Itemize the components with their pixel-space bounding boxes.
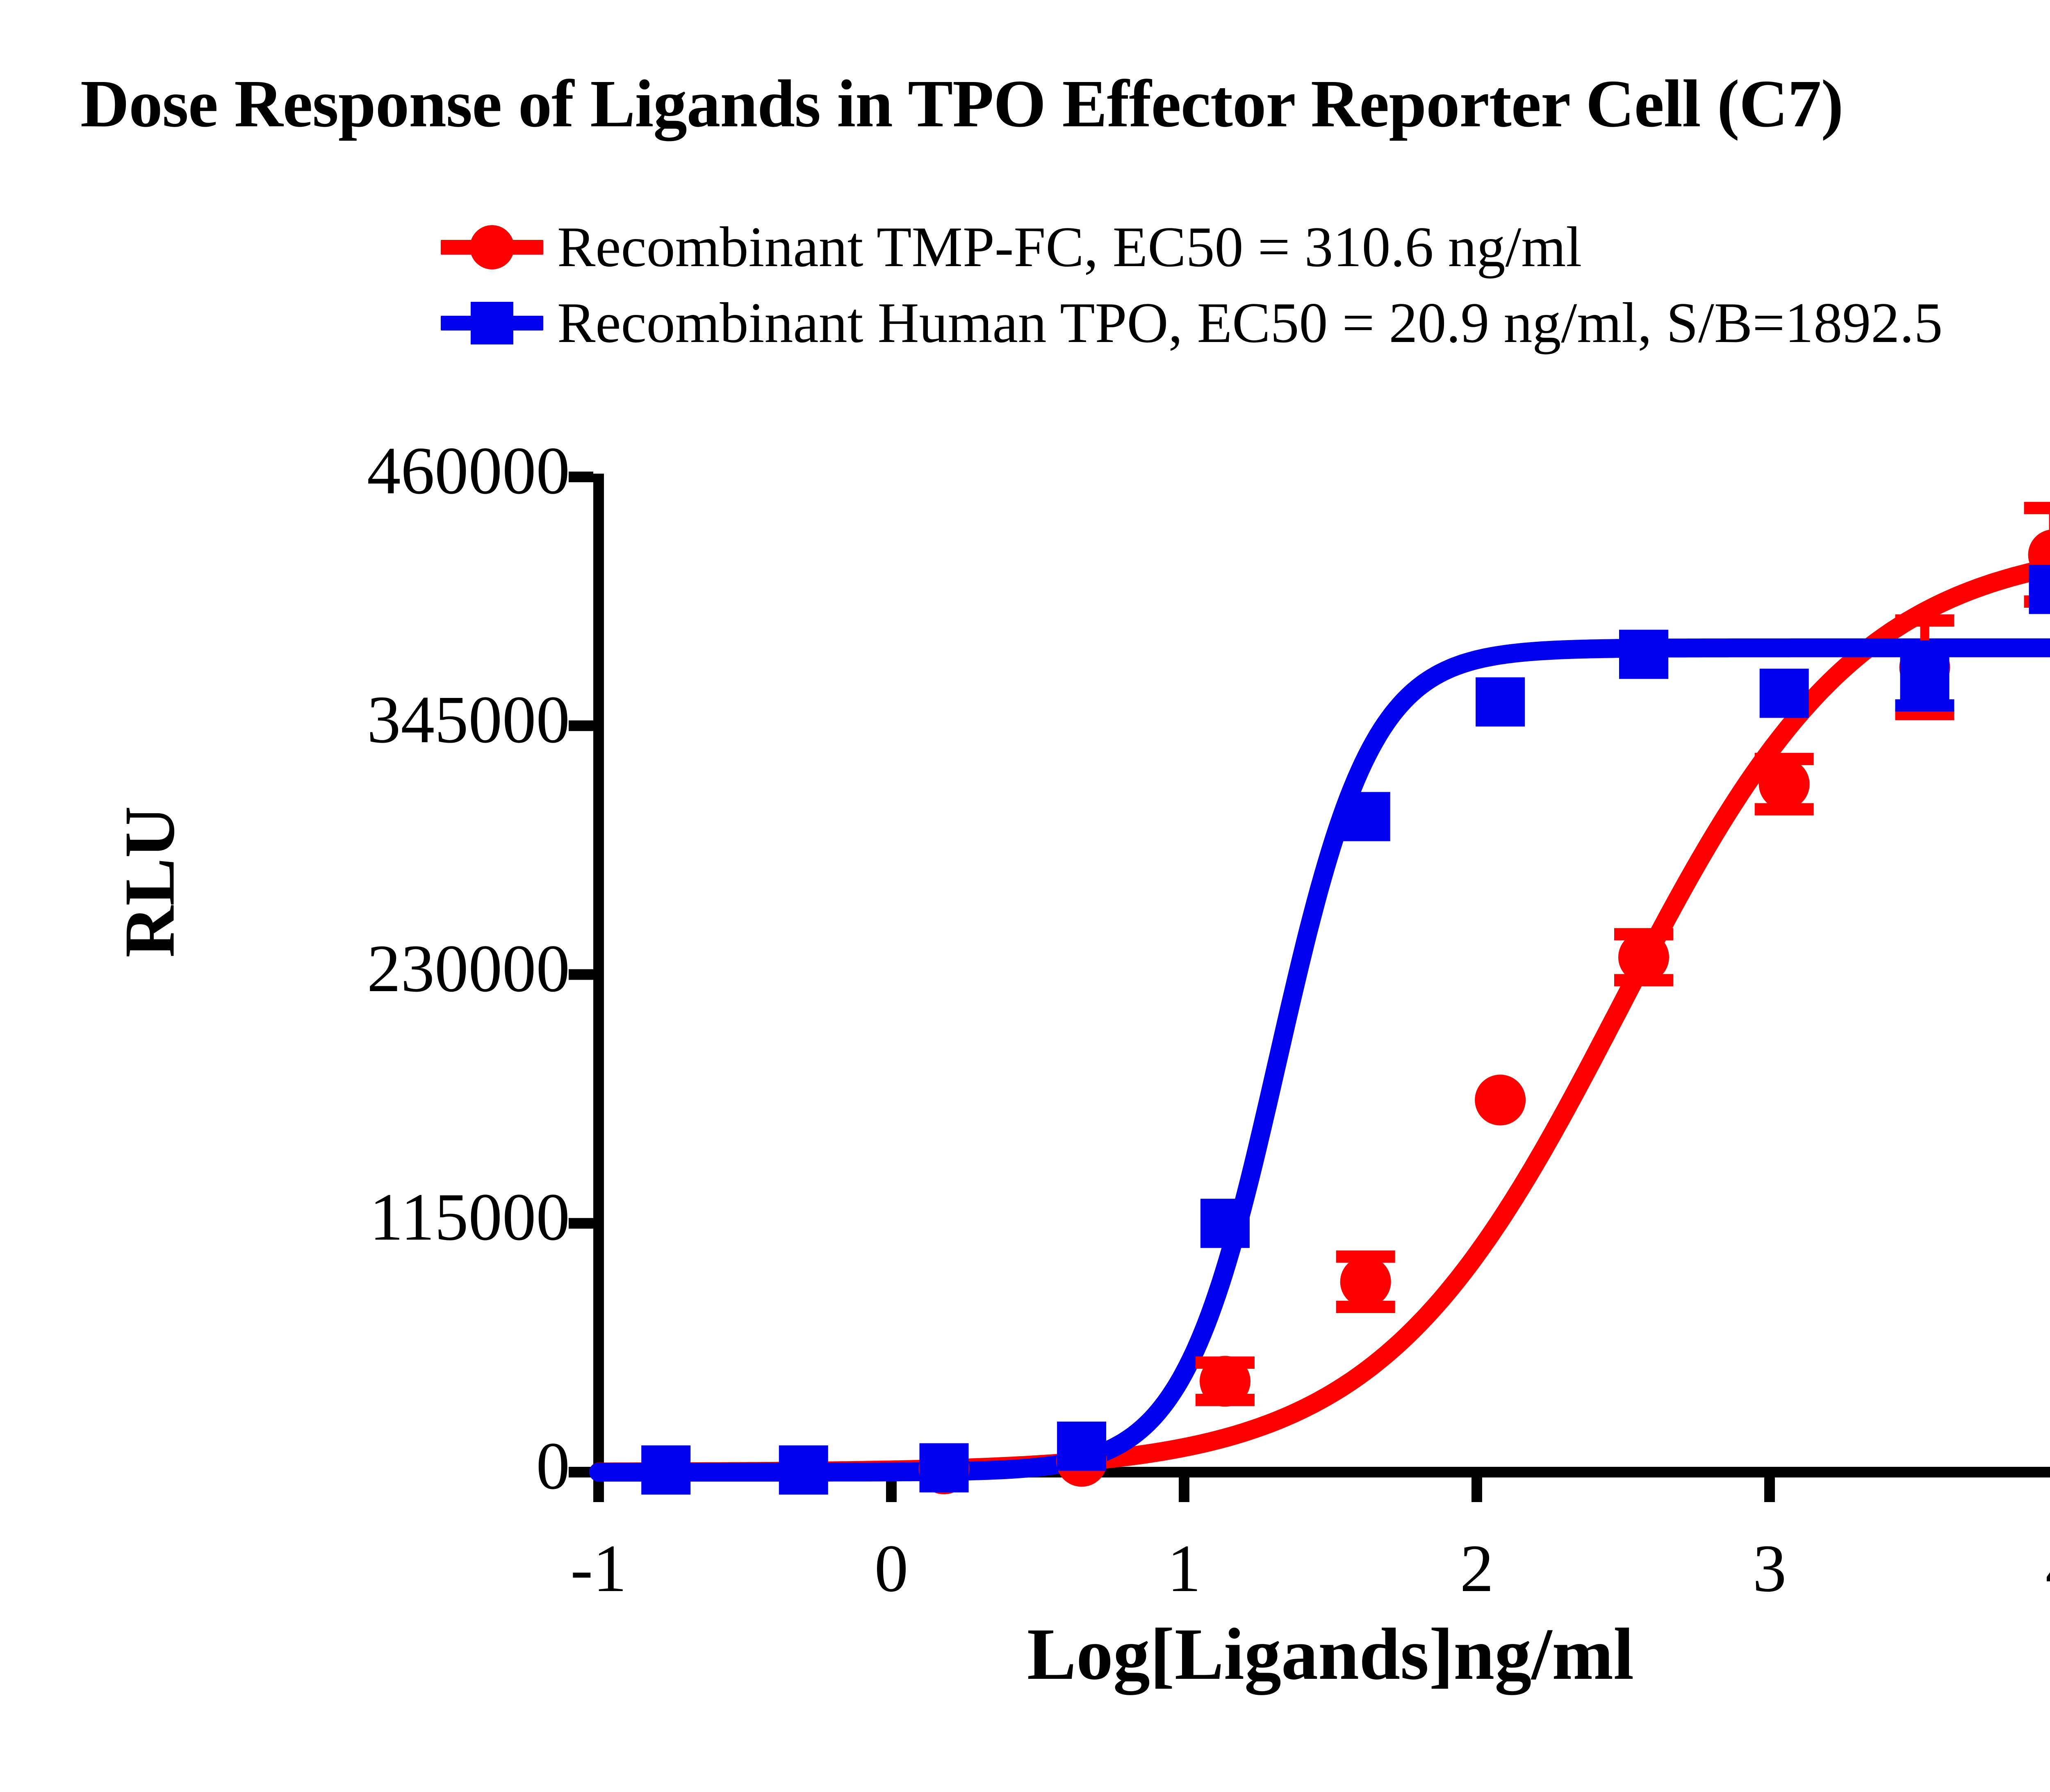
data-point-marker (1200, 1199, 1250, 1248)
x-tick-mark (1179, 1477, 1189, 1502)
chart-page: Dose Response of Ligands in TPO Effector… (0, 0, 2050, 1792)
series-group (599, 502, 2050, 1495)
data-point-marker (1200, 1356, 1250, 1407)
data-point-marker (1619, 630, 1668, 679)
axis-group (569, 472, 2050, 1502)
y-tick-mark (569, 472, 593, 482)
data-point-marker (1760, 669, 1809, 718)
x-tick-mark (1764, 1477, 1775, 1502)
data-point-marker (1476, 677, 1525, 727)
data-point-marker (1475, 1075, 1526, 1126)
fit-curve (599, 565, 2050, 1472)
data-point-marker (641, 1445, 690, 1495)
plot-svg (0, 0, 2050, 1792)
x-tick-label: 3 (1708, 1530, 1831, 1607)
y-axis-line (593, 474, 604, 1477)
error-bar-cap (1895, 699, 1954, 711)
x-tick-label: 1 (1123, 1530, 1246, 1607)
data-point-marker (779, 1445, 828, 1495)
y-tick-label: 230000 (94, 930, 570, 1008)
plot-area: RLU Log[Ligands]ng/ml 011500023000034500… (0, 0, 2050, 1792)
y-tick-label: 115000 (94, 1178, 570, 1256)
x-tick-label: 4 (2001, 1530, 2050, 1607)
y-tick-mark (569, 969, 593, 980)
fit-curve (599, 648, 2050, 1472)
data-point-marker (2029, 565, 2050, 614)
data-point-marker (1618, 932, 1669, 983)
y-tick-mark (569, 720, 593, 731)
x-tick-label: 0 (830, 1530, 953, 1607)
y-tick-label: 345000 (94, 681, 570, 759)
error-bar-cap (2024, 502, 2050, 514)
data-point-marker (1900, 651, 1949, 700)
data-point-marker (1341, 792, 1390, 841)
data-point-marker (920, 1443, 969, 1492)
y-tick-mark (569, 1218, 593, 1229)
data-point-marker (1057, 1422, 1106, 1471)
x-axis-label: Log[Ligands]ng/ml (599, 1612, 2050, 1696)
y-tick-label: 460000 (94, 432, 570, 510)
x-tick-label: 2 (1415, 1530, 1538, 1607)
x-tick-label: -1 (537, 1530, 660, 1607)
error-bar-cap (1895, 614, 1954, 627)
error-bar-cap (1895, 641, 1954, 653)
y-tick-label: 0 (94, 1427, 570, 1505)
data-point-marker (1759, 759, 1810, 809)
data-point-marker (1340, 1256, 1391, 1307)
x-tick-mark (1471, 1477, 1482, 1502)
